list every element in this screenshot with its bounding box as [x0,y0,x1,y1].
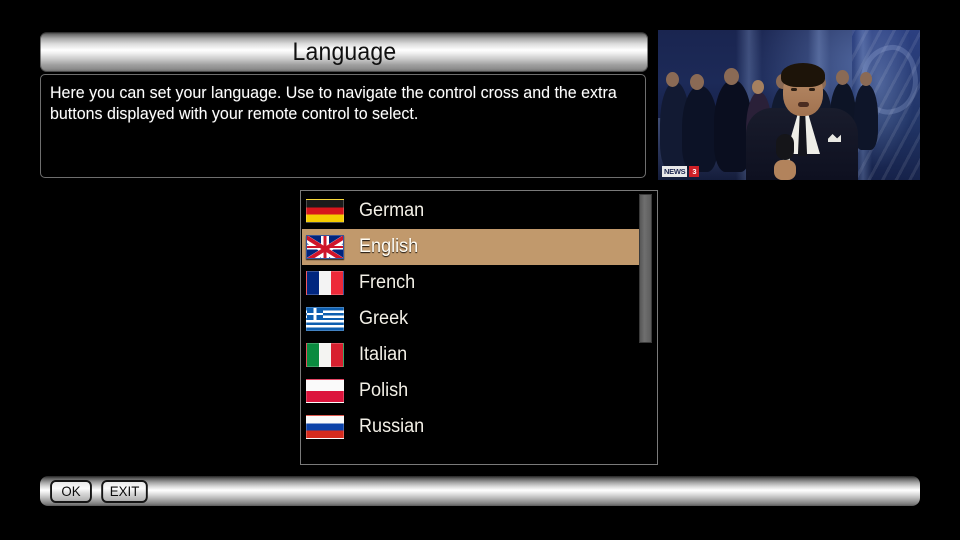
description-panel: Here you can set your language. Use to n… [40,74,646,178]
flag-united-kingdom-icon [306,235,344,259]
crowd-head [836,70,849,85]
crowd-figure [682,86,718,172]
action-bar: OKEXIT [40,476,920,506]
reporter-eye [809,88,815,91]
language-row-polish[interactable]: Polish [302,373,642,409]
language-row-label: Polish [359,380,408,402]
tv-settings-screen: Language Here you can set your language.… [0,0,960,540]
language-row-label: Italian [359,344,407,366]
reporter-eye [791,88,797,91]
language-row-label: French [359,272,415,294]
flag-russia-icon [306,415,344,439]
crowd-head [666,72,679,87]
reporter-hair [781,63,825,87]
crowd-head [690,74,704,90]
reporter-hand [774,160,796,180]
ok-button-label: OK [61,483,80,499]
exit-button[interactable]: EXIT [101,480,148,503]
language-row-german[interactable]: German [302,193,642,229]
channel-logo-bug: NEWS 3 [662,166,699,177]
flag-germany-icon [306,199,344,223]
flag-greece-icon [306,307,344,331]
video-preview[interactable]: NEWS 3 [658,30,920,180]
ok-button[interactable]: OK [50,480,92,503]
microphone-icon [776,134,794,160]
crowd-head [724,68,739,85]
language-list: GermanEnglishFrenchGreekItalianPolishRus… [302,193,642,445]
language-row-greek[interactable]: Greek [302,301,642,337]
flag-poland-icon [306,379,344,403]
crowd-head [752,80,764,94]
language-row-label: English [359,236,418,258]
window-title-bar: Language [40,32,648,72]
description-text: Here you can set your language. Use to n… [50,83,618,125]
list-scrollbar[interactable] [639,194,652,460]
channel-bug-primary: NEWS [662,166,687,177]
exit-button-label: EXIT [110,483,140,499]
language-row-label: Russian [359,416,424,438]
reporter-mouth [798,102,809,107]
language-row-english[interactable]: English [302,229,643,265]
language-row-french[interactable]: French [302,265,642,301]
list-scrollbar-thumb[interactable] [639,194,652,343]
union-jack-saltire [307,236,343,258]
flag-italy-icon [306,343,344,367]
page-title: Language [292,38,396,67]
channel-bug-secondary: 3 [689,166,699,177]
language-row-italian[interactable]: Italian [302,337,642,373]
language-row-label: German [359,200,424,222]
language-row-label: Greek [359,308,408,330]
language-list-panel[interactable]: GermanEnglishFrenchGreekItalianPolishRus… [300,190,658,465]
crowd-head [860,72,872,86]
language-row-russian[interactable]: Russian [302,409,642,445]
flag-france-icon [306,271,344,295]
